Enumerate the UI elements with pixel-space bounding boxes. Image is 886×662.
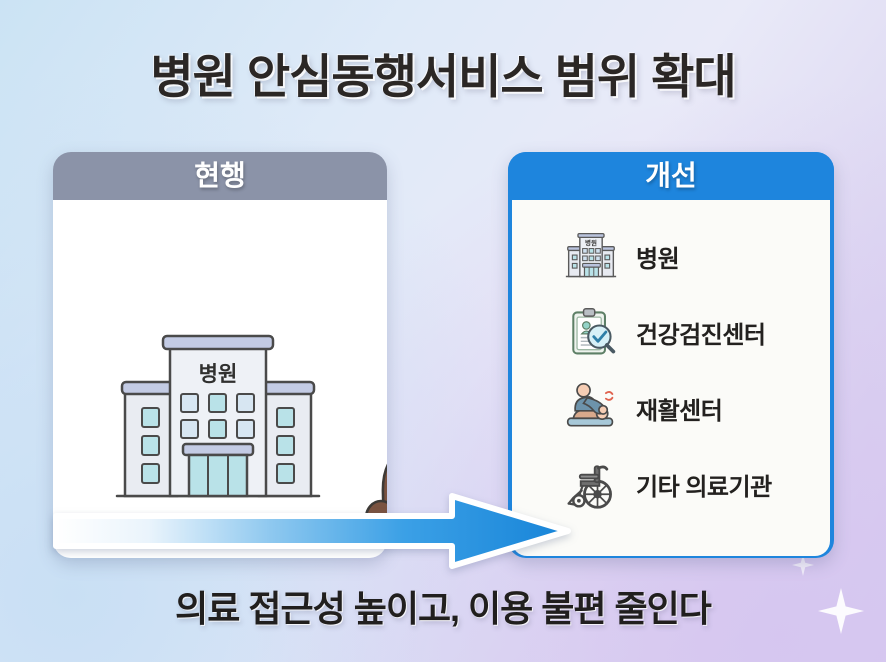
svg-text:병원: 병원 (585, 238, 597, 247)
panel-improved-header: 개선 (508, 152, 834, 200)
poster-caption: 의료 접근성 높이고, 이용 불편 줄인다 (0, 580, 886, 632)
poster-title: 병원 안심동행서비스 범위 확대 (0, 38, 886, 107)
svg-text:병원: 병원 (199, 363, 238, 386)
hospital-building-icon: 병원 (113, 324, 323, 514)
hospital-building-icon: 병원 (562, 227, 620, 285)
list-item-label: 재활센터 (636, 391, 722, 426)
panel-current-header: 현행 (53, 152, 387, 200)
list-item-label: 병원 (636, 239, 679, 274)
clipboard-checkup-icon (562, 303, 620, 361)
list-item[interactable]: 재활센터 (512, 370, 830, 446)
infographic-poster: 병원 안심동행서비스 범위 확대 현행 (0, 0, 886, 662)
service-list: 병원 병원 (512, 204, 830, 522)
list-item[interactable]: 병원 병원 (512, 218, 830, 294)
list-item[interactable]: 건강검진센터 (512, 294, 830, 370)
list-item-label: 기타 의료기관 (636, 467, 772, 502)
rehabilitation-therapy-icon (562, 379, 620, 437)
progress-arrow (52, 492, 572, 570)
list-item-label: 건강검진센터 (636, 315, 765, 350)
